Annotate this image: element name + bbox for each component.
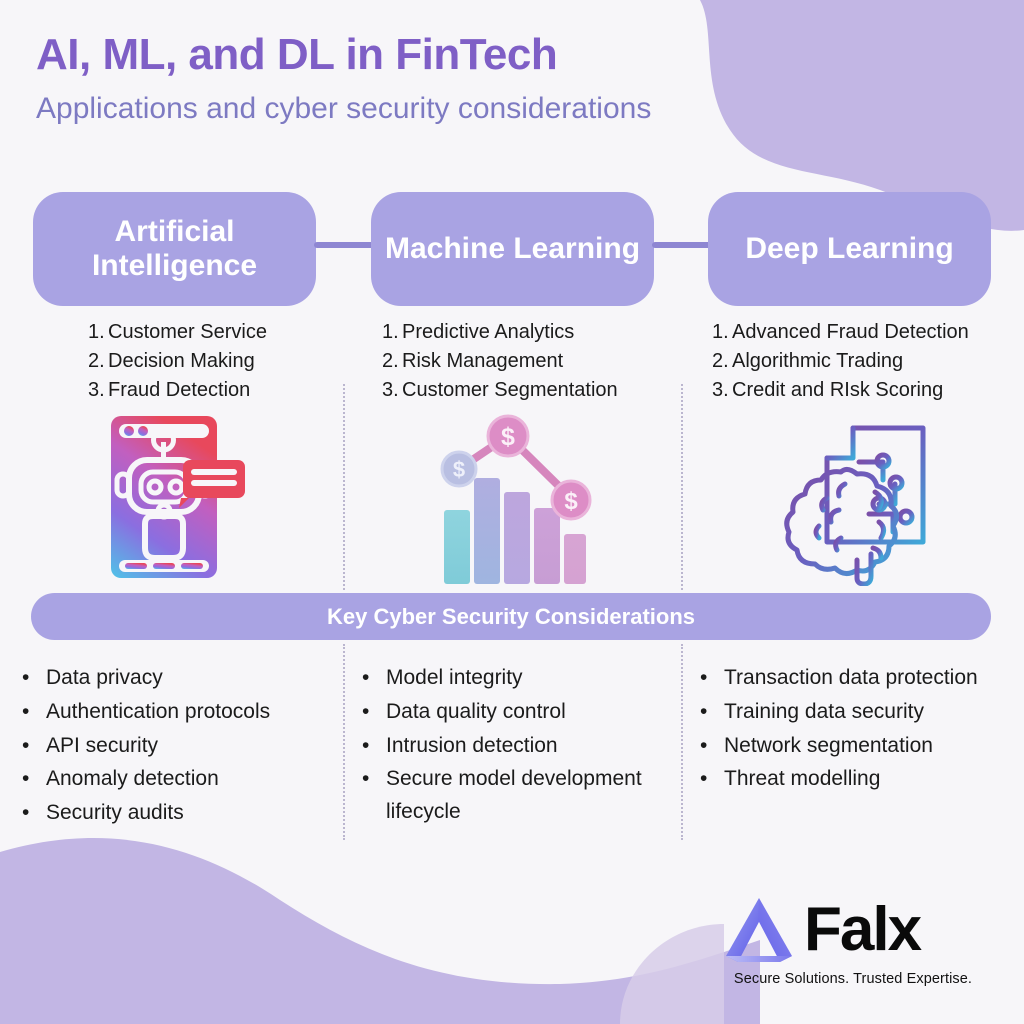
logo-tagline: Secure Solutions. Trusted Expertise. <box>720 971 986 987</box>
pill-machine-learning[interactable]: Machine Learning <box>371 192 654 306</box>
brain-circuit-icon <box>775 414 937 591</box>
bullet-icon: • <box>22 763 46 796</box>
list-index: 1. <box>382 318 402 347</box>
list-label: Predictive Analytics <box>402 318 574 347</box>
bullet-icon: • <box>700 763 724 796</box>
list-item: 3. Customer Segmentation <box>382 376 672 405</box>
list-label: Advanced Fraud Detection <box>732 318 969 347</box>
list-label: Threat modelling <box>724 763 1000 796</box>
category-pill-row: Artificial Intelligence Machine Learning… <box>0 192 1024 307</box>
list-item: •Security audits <box>22 797 342 830</box>
brand-logo[interactable]: Falx Secure Solutions. Trusted Expertise… <box>720 893 986 998</box>
list-item: •Anomaly detection <box>22 763 342 796</box>
list-item: 1. Customer Service <box>88 318 338 347</box>
pill-artificial-intelligence[interactable]: Artificial Intelligence <box>33 192 316 306</box>
svg-text:$: $ <box>453 457 465 482</box>
bullet-icon: • <box>700 662 724 695</box>
list-item: 1. Advanced Fraud Detection <box>712 318 1012 347</box>
bullet-icon: • <box>700 730 724 763</box>
list-label: Decision Making <box>108 347 255 376</box>
list-index: 2. <box>382 347 402 376</box>
bullet-icon: • <box>362 662 386 695</box>
list-label: Network segmentation <box>724 730 1000 763</box>
list-index: 2. <box>88 347 108 376</box>
header: AI, ML, and DL in FinTech Applications a… <box>0 0 1024 127</box>
list-label: Training data security <box>724 696 1000 729</box>
bullet-icon: • <box>362 696 386 729</box>
list-label: Risk Management <box>402 347 563 376</box>
security-list-ai: •Data privacy •Authentication protocols … <box>22 662 342 831</box>
bullet-icon: • <box>22 662 46 695</box>
list-label: Intrusion detection <box>386 730 672 763</box>
bullet-icon: • <box>362 730 386 763</box>
infographic-root: AI, ML, and DL in FinTech Applications a… <box>0 0 1024 1024</box>
security-list-dl: •Transaction data protection •Training d… <box>700 662 1000 797</box>
list-item: 2. Algorithmic Trading <box>712 347 1012 376</box>
illustration-row: $ $ $ <box>0 414 1024 590</box>
svg-text:$: $ <box>564 488 578 515</box>
list-item: •Data privacy <box>22 662 342 695</box>
bullet-icon: • <box>22 797 46 830</box>
list-index: 3. <box>88 376 108 405</box>
list-index: 3. <box>712 376 732 405</box>
list-label: Security audits <box>46 797 342 830</box>
key-considerations-banner: Key Cyber Security Considerations <box>31 593 991 640</box>
list-label: Customer Segmentation <box>402 376 618 405</box>
chatbot-ai-assistant-icon <box>103 414 249 585</box>
applications-list-dl: 1. Advanced Fraud Detection 2. Algorithm… <box>712 318 1012 406</box>
list-label: Algorithmic Trading <box>732 347 903 376</box>
page-title: AI, ML, and DL in FinTech <box>36 30 1024 81</box>
list-item: •Data quality control <box>362 696 672 729</box>
list-label: Fraud Detection <box>108 376 250 405</box>
applications-list-ml: 1. Predictive Analytics 2. Risk Manageme… <box>382 318 672 406</box>
security-list-ml: •Model integrity •Data quality control •… <box>362 662 672 830</box>
list-item: 2. Decision Making <box>88 347 338 376</box>
list-label: Customer Service <box>108 318 267 347</box>
list-item: •Network segmentation <box>700 730 1000 763</box>
bullet-icon: • <box>22 696 46 729</box>
list-item: 3. Credit and RIsk Scoring <box>712 376 1012 405</box>
page-subtitle: Applications and cyber security consider… <box>36 91 1024 127</box>
list-item: 3. Fraud Detection <box>88 376 338 405</box>
pill-deep-learning[interactable]: Deep Learning <box>708 192 991 306</box>
list-item: •API security <box>22 730 342 763</box>
list-item: 1. Predictive Analytics <box>382 318 672 347</box>
list-item: •Secure model development lifecycle <box>362 763 672 829</box>
list-item: •Model integrity <box>362 662 672 695</box>
list-index: 3. <box>382 376 402 405</box>
list-item: •Intrusion detection <box>362 730 672 763</box>
applications-row: 1. Customer Service 2. Decision Making 3… <box>0 318 1024 410</box>
list-index: 1. <box>712 318 732 347</box>
list-item: •Transaction data protection <box>700 662 1000 695</box>
list-label: Anomaly detection <box>46 763 342 796</box>
list-label: Data quality control <box>386 696 672 729</box>
applications-list-ai: 1. Customer Service 2. Decision Making 3… <box>88 318 338 406</box>
list-label: Data privacy <box>46 662 342 695</box>
logo-wordmark: Falx <box>804 899 920 961</box>
list-label: Credit and RIsk Scoring <box>732 376 943 405</box>
list-item: •Authentication protocols <box>22 696 342 729</box>
list-item: •Threat modelling <box>700 763 1000 796</box>
list-label: Authentication protocols <box>46 696 342 729</box>
pill-connector-1 <box>314 242 374 248</box>
bullet-icon: • <box>362 763 386 829</box>
list-label: Transaction data protection <box>724 662 1000 695</box>
list-label: Model integrity <box>386 662 672 695</box>
list-label: API security <box>46 730 342 763</box>
list-item: 2. Risk Management <box>382 347 672 376</box>
bullet-icon: • <box>700 696 724 729</box>
list-label: Secure model development lifecycle <box>386 763 672 829</box>
list-item: •Training data security <box>700 696 1000 729</box>
list-index: 2. <box>712 347 732 376</box>
security-row: •Data privacy •Authentication protocols … <box>0 662 1024 842</box>
svg-text:$: $ <box>501 423 515 451</box>
logo-main-row: Falx <box>720 893 986 967</box>
list-index: 1. <box>88 318 108 347</box>
bullet-icon: • <box>22 730 46 763</box>
falx-triangle-logo-icon <box>720 894 798 966</box>
pill-connector-2 <box>652 242 712 248</box>
bar-chart-dollar-trend-icon: $ $ $ <box>432 414 592 589</box>
